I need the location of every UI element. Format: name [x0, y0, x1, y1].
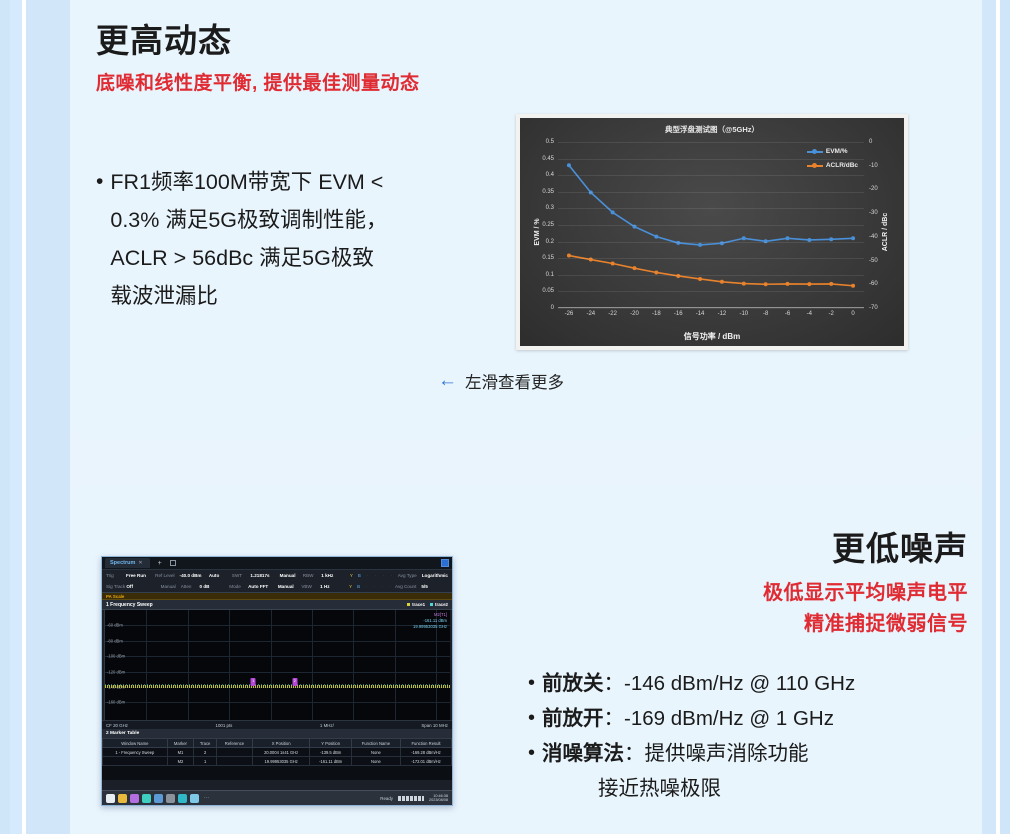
sig-track-value[interactable]: Off: [126, 584, 153, 589]
chart-y-tick-left: 0.35: [542, 189, 554, 195]
signal-bars-icon: [398, 796, 424, 801]
bullet-text-wrap: FR1频率100M带宽下 EVM < 0.3% 满足5G极致调制性能， ACLR…: [110, 163, 387, 315]
chart-y-tick-left: 0.45: [542, 156, 554, 162]
legend-trace1-label: trace1: [412, 602, 425, 607]
sa-per-div: 1 MHz/: [320, 723, 334, 728]
cell-reference: [217, 757, 253, 766]
bullet-line: ACLR > 56dBc 满足5G极致: [110, 239, 387, 277]
sig-track-label: Sig Track: [106, 584, 126, 589]
sa-marker-m1[interactable]: 1: [251, 678, 256, 686]
section2-bullet-list: • 前放关：-146 dBm/Hz @ 110 GHz • 前放开：-169 d…: [528, 666, 998, 806]
chart-point: [786, 236, 790, 240]
col-y-position: Y Position: [310, 739, 351, 748]
legend-trace2-label: trace2: [435, 602, 448, 607]
window-close-icon[interactable]: [170, 560, 176, 566]
chart-point: [611, 262, 615, 266]
sa-window-title: 1 Frequency Sweep: [106, 602, 153, 608]
tool-icon[interactable]: [154, 794, 163, 803]
section2-subtitle-line1: 极低显示平均噪声电平: [763, 578, 968, 609]
bullet-continuation: 接近热噪极限: [528, 771, 998, 806]
window-restore-icon[interactable]: [441, 559, 449, 567]
sig-track-mode[interactable]: Manual: [153, 584, 181, 589]
chart-x-tick: -16: [674, 311, 683, 317]
arrow-left-icon: ←: [438, 370, 457, 392]
chart-gridline: [558, 258, 864, 259]
chart-point: [742, 236, 746, 240]
sa-trace1-noise-floor: [105, 685, 450, 688]
sa-status-bar: PA Scale: [102, 593, 452, 600]
bullet-line: FR1频率100M带宽下 EVM <: [110, 163, 387, 201]
bullet-line: 载波泄漏比: [110, 277, 387, 315]
bullet-line: 0.3% 满足5G极致调制性能，: [110, 201, 387, 239]
cell-reference: [217, 748, 253, 757]
clock-date: 2023/08/08: [429, 798, 448, 802]
chart-x-axis-label: 信号功率 / dBm: [520, 331, 904, 342]
vbw-mode[interactable]: Manual: [278, 584, 302, 589]
cell-trace: 2: [194, 748, 217, 757]
avg-count-label: Avg Count: [394, 584, 422, 589]
chart-x-tick: -18: [652, 311, 661, 317]
cell-window-name: [103, 757, 168, 766]
legend-trace2: trace2: [430, 602, 448, 607]
swt-label: SWT: [232, 573, 250, 578]
chart-line-evm: [569, 165, 853, 245]
swipe-hint-label: 左滑查看更多: [465, 369, 564, 393]
cell-function-name: None: [351, 757, 400, 766]
table-header-row: Window Name Marker Trace Reference X Pos…: [103, 739, 452, 748]
chart-point: [611, 210, 615, 214]
sa-window-header: 1 Frequency Sweep trace1 trace2: [102, 600, 452, 610]
chart-gridline: [558, 175, 864, 176]
chart-x-tick: 0: [851, 311, 854, 317]
cell-function-result: -169.28 dBm/Hz: [401, 748, 452, 757]
bullet-label: 前放开: [542, 707, 604, 730]
sa-center-freq: CF 20 GHz: [106, 723, 128, 728]
sa-parameter-panel: Trig Free Run Ref Level -40.0 dBm Auto S…: [102, 570, 452, 593]
sa-taskbar: ··· Ready 10:46:38 2023/08/08: [102, 790, 452, 805]
chart-x-tick: -12: [718, 311, 727, 317]
sa-spectrum-graph[interactable]: -60 dBm -80 dBm -100 dBm -120 dBm -140 d…: [104, 610, 450, 720]
section2-subtitle: 极低显示平均噪声电平 精准捕捉微弱信号: [763, 578, 968, 640]
ref-level-value[interactable]: -40.0 dBm: [180, 573, 209, 578]
col-x-position: X Position: [252, 739, 310, 748]
ref-level-auto[interactable]: Auto: [209, 573, 232, 578]
chart-y-tick-left: 0.3: [546, 205, 554, 211]
mode-value[interactable]: Auto FFT: [248, 584, 278, 589]
rbw-label: RBW: [303, 573, 321, 578]
list-item: • 前放关：-146 dBm/Hz @ 110 GHz: [528, 666, 998, 701]
mode-label: Mode: [229, 584, 248, 589]
chart-point: [851, 236, 855, 240]
sa-span: Span 10 MHz: [421, 723, 448, 728]
sa-y-label: -160 dBm: [107, 700, 125, 705]
sa-marker-table: Window Name Marker Trace Reference X Pos…: [102, 738, 452, 766]
sa-tab-bar: Spectrum ✕ +: [102, 557, 452, 570]
chart-x-tick: -20: [630, 311, 639, 317]
file-icon[interactable]: [130, 794, 139, 803]
chart-y-tick-left: 0.4: [546, 172, 554, 178]
legend-trace1: trace1: [407, 602, 425, 607]
camera-icon[interactable]: [142, 794, 151, 803]
chart-point: [567, 163, 571, 167]
chart-point: [742, 282, 746, 286]
bullet-sep: ：: [604, 707, 625, 730]
folder-icon[interactable]: [118, 794, 127, 803]
atten-label: Atten: [181, 584, 200, 589]
chart-gridline: [558, 308, 864, 309]
taskbar-more-icon[interactable]: ···: [204, 795, 209, 801]
tab-spectrum-label: Spectrum: [110, 560, 135, 566]
evm-aclr-chart: 典型浮盘测试图（@5GHz） EVM / % ACLR / dBc 信号功率 /…: [516, 114, 908, 350]
chart-y-tick-right: -40: [869, 234, 878, 240]
col-reference: Reference: [217, 739, 253, 748]
cell-marker: M2: [167, 757, 194, 766]
bullet-marker-icon: •: [528, 701, 535, 736]
swipe-hint[interactable]: ← 左滑查看更多: [438, 369, 564, 393]
spectrum-analyzer-screenshot: Spectrum ✕ + Trig Free Run Ref Level -40…: [101, 556, 453, 806]
chart-x-tick: -26: [565, 311, 574, 317]
clock-time: 10:46:38: [433, 794, 448, 798]
cell-x-position: 19.99953035 GHz: [252, 757, 310, 766]
table-row[interactable]: M2 1 19.99953035 GHz -161.11 dBm None -1…: [103, 757, 452, 766]
chart-y-tick-right: -10: [869, 163, 878, 169]
chart-point: [807, 282, 811, 286]
bullet-content: 前放关：-146 dBm/Hz @ 110 GHz: [542, 666, 855, 701]
cell-marker: M1: [167, 748, 194, 757]
chart-y-tick-right: -50: [869, 258, 878, 264]
bullet-marker-icon: •: [528, 736, 535, 771]
col-marker: Marker: [167, 739, 194, 748]
chart-y-tick-right: -60: [869, 281, 878, 287]
sa-marker-table-title: 2 Marker Table: [102, 729, 452, 738]
list-item: • FR1频率100M带宽下 EVM < 0.3% 满足5G极致调制性能， AC…: [96, 163, 466, 315]
section2-title: 更低噪声: [832, 522, 968, 570]
chart-x-tick: -10: [739, 311, 748, 317]
sa-y-label: -60 dBm: [107, 623, 123, 628]
tab-spectrum[interactable]: Spectrum ✕: [105, 558, 150, 568]
chart-point: [698, 277, 702, 281]
sa-empty-area: [102, 766, 452, 780]
bullet-value: 提供噪声消除功能: [645, 742, 809, 765]
chart-y-axis-label-right: ACLR / dBc: [881, 213, 888, 252]
chart-y-tick-left: 0.05: [542, 288, 554, 294]
vbw-label: VBW: [301, 584, 320, 589]
cell-y-position: -139.5 dBm: [310, 748, 351, 757]
chart-x-tick: -8: [763, 311, 768, 317]
pen-icon[interactable]: [166, 794, 175, 803]
chart-x-tick: -14: [696, 311, 705, 317]
trig-label: Trig: [106, 573, 126, 578]
sa-y-label: -80 dBm: [107, 638, 123, 643]
chart-y-tick-right: 0: [869, 139, 872, 145]
screen-icon[interactable]: [190, 794, 199, 803]
chart-point: [851, 284, 855, 288]
sa-points: 1001 pts: [216, 723, 233, 728]
bullet-value: -146 dBm/Hz @ 110 GHz: [624, 672, 855, 695]
chart-x-tick: -22: [608, 311, 617, 317]
bullet-sep: ：: [624, 742, 645, 765]
chart-y-tick-right: -30: [869, 210, 878, 216]
chart-point: [698, 243, 702, 247]
sa-readout-value2: 19.99953035 GHz: [413, 624, 447, 630]
chart-gridline: [558, 159, 864, 160]
chart-point: [786, 282, 790, 286]
chart-canvas: 典型浮盘测试图（@5GHz） EVM / % ACLR / dBc 信号功率 /…: [520, 118, 904, 346]
chart-x-tick: -6: [785, 311, 790, 317]
section1-bullet-list: • FR1频率100M带宽下 EVM < 0.3% 满足5G极致调制性能， AC…: [96, 163, 466, 315]
taskbar-clock: 10:46:38 2023/08/08: [429, 794, 448, 803]
chart-plot-area: 00.050.10.150.20.250.30.350.40.450.50-10…: [558, 142, 864, 308]
settings-icon[interactable]: [106, 794, 115, 803]
chart-line-aclrdbc: [569, 256, 853, 286]
bullet-sep: ：: [604, 672, 625, 695]
sa-y-label: -100 dBm: [107, 654, 125, 659]
taskbar-status: Ready: [380, 796, 393, 801]
status-lights-2: YB ·· ··: [348, 584, 394, 589]
chart-point: [829, 282, 833, 286]
cell-y-position: -161.11 dBm: [310, 757, 351, 766]
bullet-marker-icon: •: [528, 666, 535, 701]
cell-window-name: 1 - Frequency Sweep: [103, 748, 168, 757]
avg-count-value[interactable]: 5/5: [421, 584, 448, 589]
vbw-value[interactable]: 1 Hz: [320, 584, 344, 589]
chart-y-tick-left: 0: [551, 305, 554, 311]
avg-type-label: Avg Type: [394, 573, 421, 578]
avg-type-value[interactable]: Logarithmic: [422, 573, 448, 578]
rbw-value[interactable]: 1 kHz: [321, 573, 344, 578]
chart-x-tick: -4: [807, 311, 812, 317]
col-function-name: Function Name: [351, 739, 400, 748]
chart-gridline: [558, 192, 864, 193]
close-icon[interactable]: ✕: [138, 560, 142, 566]
gear-icon[interactable]: [178, 794, 187, 803]
chart-y-tick-left: 0.15: [542, 255, 554, 261]
page-root: 更高动态 底噪和线性度平衡, 提供最佳测量动态 • FR1频率100M带宽下 E…: [0, 0, 1010, 834]
chart-gridline: [558, 275, 864, 276]
chart-y-tick-right: -20: [869, 186, 878, 192]
sa-param-row-2: Sig Track Off Manual Atten 0 dB Mode Aut…: [102, 581, 452, 592]
atten-value[interactable]: 0 dB: [200, 584, 230, 589]
col-function-result: Function Result: [401, 739, 452, 748]
chart-gridline: [558, 225, 864, 226]
chart-y-tick-left: 0.1: [546, 272, 554, 278]
sa-graph-footer: CF 20 GHz 1001 pts 1 MHz/ Span 10 MHz: [102, 720, 452, 729]
chart-point: [654, 235, 658, 239]
sa-trace-legend: trace1 trace2: [407, 602, 448, 607]
chart-y-tick-right: -70: [869, 305, 878, 311]
col-trace: Trace: [194, 739, 217, 748]
chart-y-tick-left: 0.5: [546, 139, 554, 145]
list-item: • 消噪算法：提供噪声消除功能: [528, 736, 998, 771]
chart-y-axis-label-left: EVM / %: [534, 218, 541, 245]
bullet-label: 消噪算法: [542, 742, 624, 765]
bullet-label: 前放关: [542, 672, 604, 695]
section2-subtitle-line2: 精准捕捉微弱信号: [763, 609, 968, 640]
chart-point: [633, 266, 637, 270]
bullet-content: 消噪算法：提供噪声消除功能: [542, 736, 809, 771]
chart-y-tick-left: 0.2: [546, 239, 554, 245]
chart-x-tick: -24: [586, 311, 595, 317]
chart-gridline: [558, 142, 864, 143]
chart-x-tick: -2: [829, 311, 834, 317]
trig-value[interactable]: Free Run: [126, 573, 152, 578]
list-item: • 前放开：-169 dBm/Hz @ 1 GHz: [528, 701, 998, 736]
bullet-marker-icon: •: [96, 163, 103, 201]
status-lights: YB ·· ··: [348, 573, 394, 578]
chart-gridline: [558, 242, 864, 243]
section1-subtitle: 底噪和线性度平衡, 提供最佳测量动态: [96, 68, 420, 95]
cell-function-name: None: [351, 748, 400, 757]
sa-param-row-1: Trig Free Run Ref Level -40.0 dBm Auto S…: [102, 570, 452, 581]
sa-marker-m2[interactable]: 2: [292, 678, 297, 686]
chart-title: 典型浮盘测试图（@5GHz）: [520, 124, 904, 135]
col-window-name: Window Name: [103, 739, 168, 748]
cell-x-position: 20.0004 1s41 GHz: [252, 748, 310, 757]
chart-point: [764, 282, 768, 286]
chart-point: [567, 254, 571, 258]
swt-value[interactable]: 1.21817s: [250, 573, 279, 578]
add-tab-icon[interactable]: +: [158, 560, 162, 567]
taskbar-right: Ready 10:46:38 2023/08/08: [380, 794, 448, 803]
cell-function-result: -172.01 dBm/Hz: [401, 757, 452, 766]
ref-level-label: Ref Level: [152, 573, 179, 578]
chart-gridline: [558, 208, 864, 209]
chart-y-tick-left: 0.25: [542, 222, 554, 228]
section1-title: 更高动态: [96, 14, 232, 62]
table-row[interactable]: 1 - Frequency Sweep M1 2 20.0004 1s41 GH…: [103, 748, 452, 757]
swt-mode[interactable]: Manual: [280, 573, 303, 578]
chart-gridline: [558, 291, 864, 292]
sa-y-label: -120 dBm: [107, 669, 125, 674]
cell-trace: 1: [194, 757, 217, 766]
chart-point: [720, 280, 724, 284]
bullet-content: 前放开：-169 dBm/Hz @ 1 GHz: [542, 701, 834, 736]
sa-marker-readout: M2[T1] -161.11 dBm 19.99953035 GHz: [413, 612, 447, 630]
bullet-value: -169 dBm/Hz @ 1 GHz: [624, 707, 834, 730]
